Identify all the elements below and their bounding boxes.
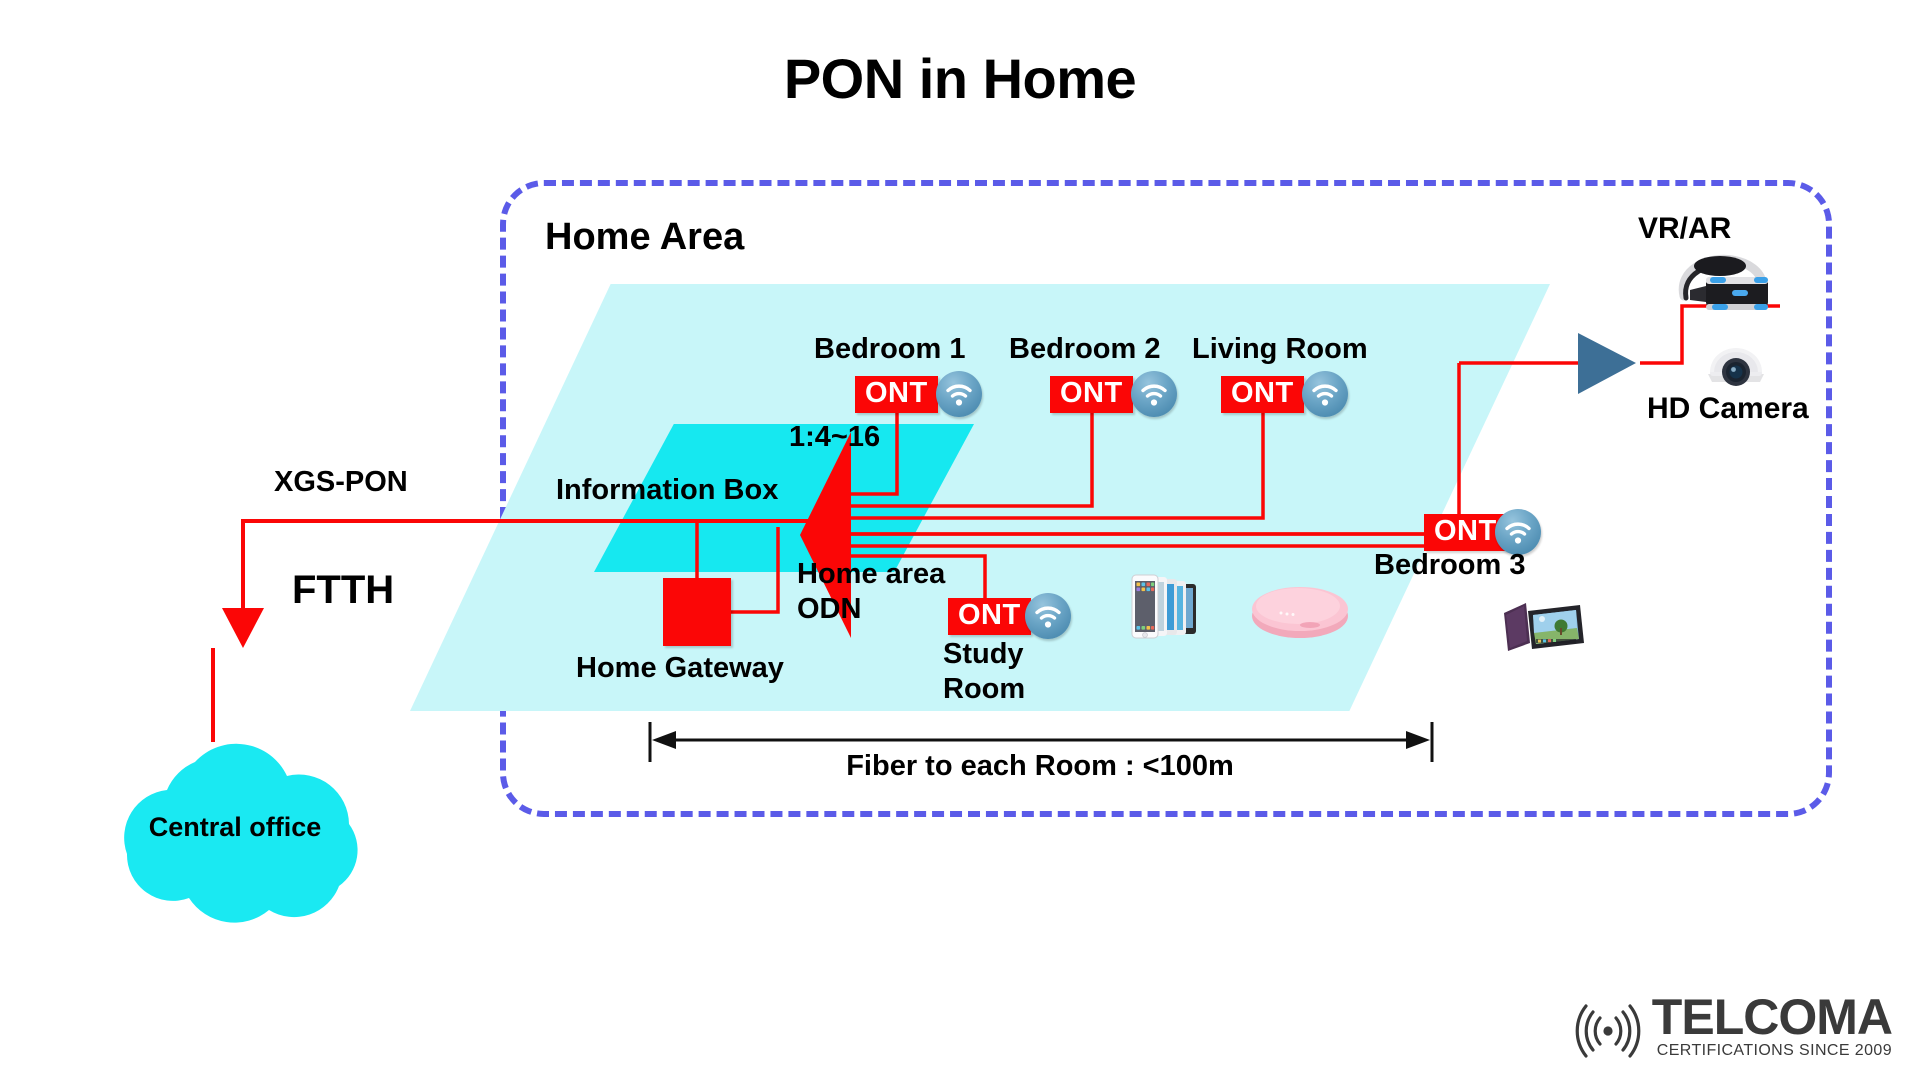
wireless-speaker-icon [1248,578,1353,640]
telcoma-wordmark: TELCOMA [1652,995,1892,1040]
ont-chip-living-room[interactable]: ONT [1221,376,1304,413]
bedroom-3-label: Bedroom 3 [1374,549,1525,581]
fiber-distance-label: Fiber to each Room : <100m [640,750,1440,783]
wireless-signal-icon [1572,1002,1644,1060]
ont-chip-study-room[interactable]: ONT [948,598,1031,635]
hd-camera-label: HD Camera [1647,392,1809,426]
study-room-label-line2: Room [943,673,1025,705]
ftth-triangle-icon [222,608,264,648]
ont-chip-bedroom-2[interactable]: ONT [1050,376,1133,413]
wifi-icon-study-room [1025,593,1071,639]
ftth-label: FTTH [292,568,394,613]
smartphones-icon [1122,572,1218,644]
splitter-ratio-label: 1:4~16 [789,421,880,453]
study-room-label-line1: Study [943,638,1024,670]
home-area-odn-label-line1: Home area [797,558,945,590]
living-room-label: Living Room [1192,333,1368,365]
wifi-icon-living-room [1302,371,1348,417]
wifi-icon-bedroom-2 [1131,371,1177,417]
vr-headset-icon [1668,250,1780,320]
vr-branch-splitter-icon [1578,333,1636,394]
hd-camera-icon [1700,330,1772,390]
home-gateway-label: Home Gateway [576,652,784,684]
home-area-odn-label-line2: ODN [797,593,861,625]
telcoma-tagline: CERTIFICATIONS SINCE 2009 [1652,1042,1892,1060]
home-gateway-icon [663,578,731,646]
bedroom-1-label: Bedroom 1 [814,333,965,365]
information-box-label: Information Box [556,474,778,506]
central-office-label: Central office [90,812,380,843]
fiber-wiring-layer [0,0,1920,1080]
xgs-pon-label: XGS-PON [274,466,408,498]
vr-ar-label: VR/AR [1638,212,1731,246]
tablet-icon [1500,595,1592,657]
ont-chip-bedroom-1[interactable]: ONT [855,376,938,413]
bedroom-2-label: Bedroom 2 [1009,333,1160,365]
wifi-icon-bedroom-1 [936,371,982,417]
telcoma-logo: TELCOMA CERTIFICATIONS SINCE 2009 [1572,995,1892,1060]
